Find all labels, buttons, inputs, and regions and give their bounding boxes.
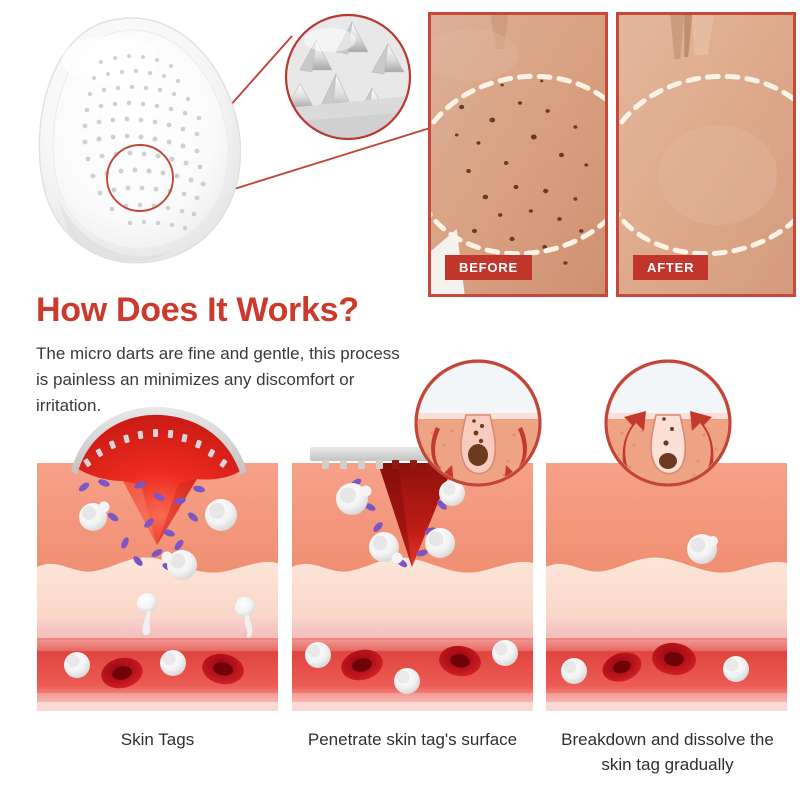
subcutaneous-layer [292,618,533,640]
after-label: AFTER [633,255,708,280]
before-label: BEFORE [445,255,532,280]
product-svg [0,0,430,300]
infographic-page: BEFORE AFTER [0,0,800,800]
process-panels [0,425,800,720]
caption-penetrate: Penetrate skin tag's surface [290,728,535,753]
product-illustration [0,0,430,300]
before-after-comparison: BEFORE AFTER [428,12,796,297]
panel-3-svg [546,425,787,717]
subcutaneous-layer [37,618,278,640]
panel-1-svg [37,425,278,717]
subcutaneous-layer [546,618,787,640]
inset-pore-clearing [606,361,730,485]
after-skin-svg [619,15,793,294]
panel-penetrate [292,425,533,717]
inset-pore-clogged [416,361,540,485]
page-title: How Does It Works? [36,293,436,329]
before-skin-svg [431,15,605,294]
after-photo: AFTER [616,12,796,297]
patch-body [39,18,240,263]
before-photo: BEFORE [428,12,608,297]
panel-breakdown [546,425,787,717]
panel-2-svg [292,425,533,717]
magnifier-circle [286,15,410,139]
caption-breakdown: Breakdown and dissolve the skin tag grad… [545,728,790,777]
caption-skin-tags: Skin Tags [35,728,280,753]
panel-skin-tags [37,425,278,717]
panel-captions: Skin Tags Penetrate skin tag's surface B… [0,728,800,798]
headline-block: How Does It Works? The micro darts are f… [36,293,436,420]
page-subtitle: The micro darts are fine and gentle, thi… [36,341,406,420]
